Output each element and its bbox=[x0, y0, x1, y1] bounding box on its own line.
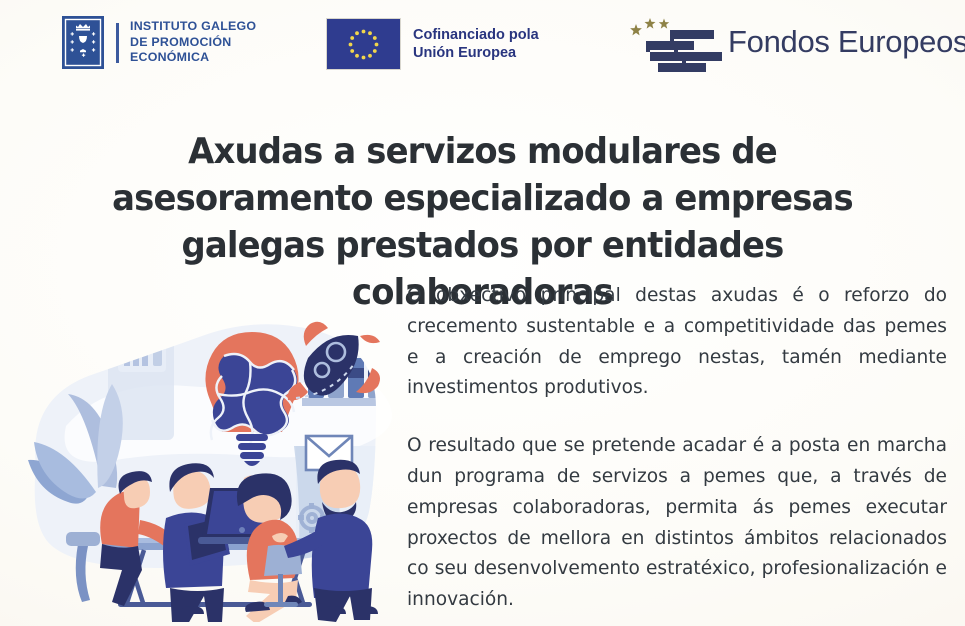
logo-eu-text: Cofinanciado pola Unión Europea bbox=[401, 26, 539, 62]
logo-fondos-europeos-text: Fondos Europeos bbox=[728, 24, 965, 60]
eu-flag-icon bbox=[326, 18, 401, 70]
logo-igape-text: INSTITUTO GALEGO DE PROMOCIÓN ECONÓMICA bbox=[130, 19, 256, 65]
logo-european-union: Cofinanciado pola Unión Europea bbox=[326, 18, 539, 70]
paragraph-result: O resultado que se pretende acadar é a p… bbox=[407, 431, 947, 616]
logo-fondos-europeos: Fondos Europeos bbox=[620, 8, 965, 76]
xunta-galicia-coat-of-arms-icon bbox=[62, 16, 104, 69]
paragraph-objective: O obxectivo principal destas axudas é o … bbox=[407, 281, 947, 404]
team-collaboration-illustration bbox=[6, 296, 398, 622]
logo-igape: INSTITUTO GALEGO DE PROMOCIÓN ECONÓMICA bbox=[62, 16, 256, 69]
logo-bar: INSTITUTO GALEGO DE PROMOCIÓN ECONÓMICA bbox=[0, 0, 965, 88]
fondos-europeos-stepped-bars-icon bbox=[620, 8, 722, 76]
logo-divider bbox=[116, 23, 119, 63]
body-text: O obxectivo principal destas axudas é o … bbox=[407, 281, 947, 616]
poster-page: INSTITUTO GALEGO DE PROMOCIÓN ECONÓMICA bbox=[0, 0, 965, 626]
